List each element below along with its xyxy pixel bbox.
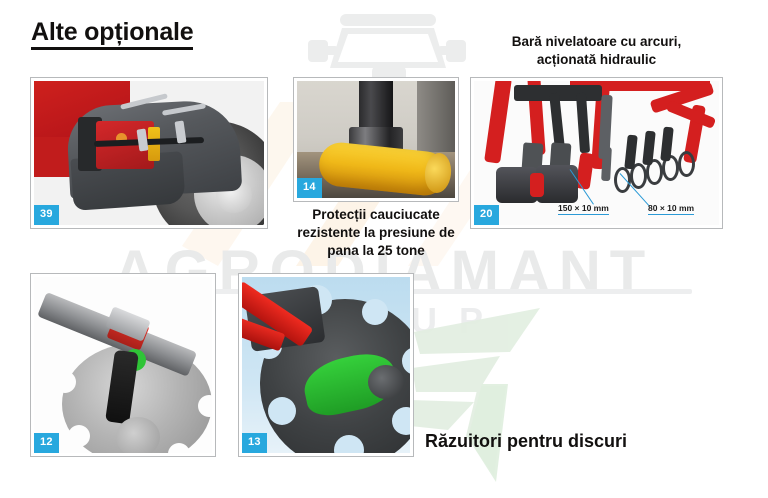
photo-20-spring-ring-5 xyxy=(678,151,695,177)
caption-levelling-bar: Bară nivelatoare cu arcuri, acționată hi… xyxy=(470,33,723,69)
catalog-page: AGRODIAMANT GROUP Alte opționale xyxy=(0,0,768,498)
photo-20-roller-link xyxy=(530,173,544,197)
page-title: Alte opționale xyxy=(31,19,193,50)
dimension-label-150: 150 × 10 mm xyxy=(558,203,609,215)
caption-rubber-protection-line3: pana la 25 tone xyxy=(281,242,471,260)
photo-12-disc-notch-2 xyxy=(68,425,90,447)
photo-12-disc-notch-1 xyxy=(54,371,76,393)
caption-rubber-protection: Protecții cauciucate rezistente la presi… xyxy=(281,206,471,260)
photo-14-press-test[interactable]: 14 xyxy=(293,77,459,202)
photo-12-badge: 12 xyxy=(34,433,59,453)
caption-disc-scrapers: Răzuitori pentru discuri xyxy=(425,430,725,454)
photo-20-cylinder-rod xyxy=(601,147,612,181)
photo-13-badge: 13 xyxy=(242,433,267,453)
photo-13-scraper-closeup[interactable]: 13 xyxy=(238,273,414,457)
photo-13-disc-notch-6 xyxy=(268,397,296,425)
photo-39-badge: 39 xyxy=(34,205,59,225)
photo-12-scraper-cad[interactable]: 12 xyxy=(30,273,216,457)
caption-levelling-bar-line2: acționată hidraulic xyxy=(470,51,723,69)
photo-13-disc-boss xyxy=(368,365,404,399)
caption-rubber-protection-line2: rezistente la presiune de xyxy=(281,224,471,242)
photo-12-disc-hub xyxy=(116,417,160,453)
photo-20-badge: 20 xyxy=(474,205,499,225)
photo-20-levelling-bar[interactable]: 150 × 10 mm 80 × 10 mm 20 xyxy=(470,77,723,229)
photo-14-badge: 14 xyxy=(297,178,322,198)
dimension-label-80: 80 × 10 mm xyxy=(648,203,694,215)
photo-20-spring-ring-1 xyxy=(614,167,631,193)
caption-levelling-bar-line1: Bară nivelatoare cu arcuri, xyxy=(470,33,723,51)
green-fan-watermark-icon xyxy=(404,296,704,496)
photo-13-disc-notch-2 xyxy=(362,299,388,325)
photo-39-fender[interactable]: 39 xyxy=(30,77,268,229)
caption-rubber-protection-line1: Protecții cauciucate xyxy=(281,206,471,224)
